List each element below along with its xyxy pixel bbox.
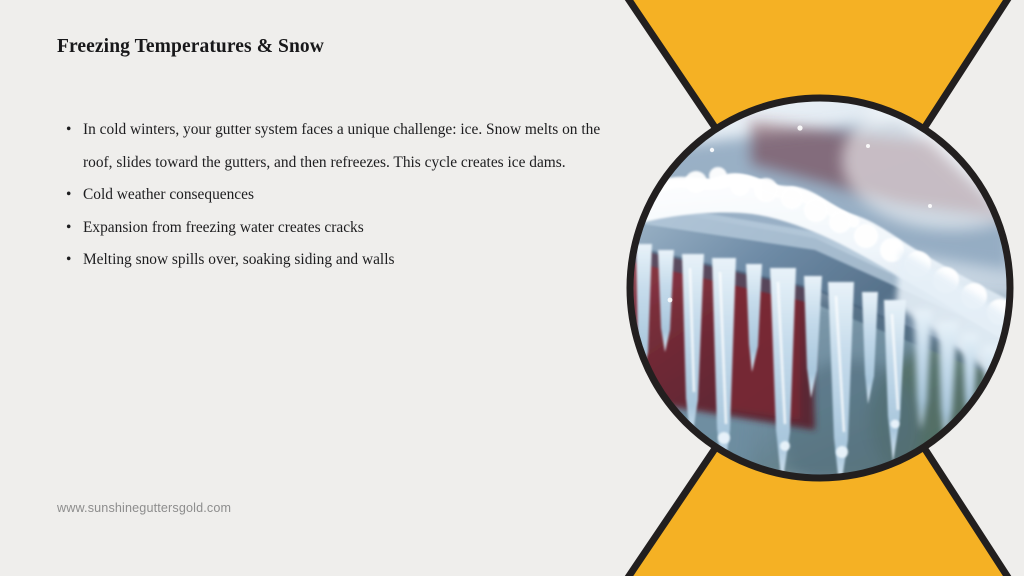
bullet-marker-icon: • xyxy=(66,244,71,277)
list-item: • In cold winters, your gutter system fa… xyxy=(64,114,624,179)
text-column: Freezing Temperatures & Snow • In cold w… xyxy=(0,0,625,576)
list-item-label: Melting snow spills over, soaking siding… xyxy=(83,244,624,277)
bullet-marker-icon: • xyxy=(66,179,71,212)
circular-photo xyxy=(630,90,1024,500)
slide-canvas: Freezing Temperatures & Snow • In cold w… xyxy=(0,0,1024,576)
list-item-label: Expansion from freezing water creates cr… xyxy=(83,212,624,245)
bullet-marker-icon: • xyxy=(66,212,71,245)
list-item: • Cold weather consequences xyxy=(64,179,624,212)
bullet-marker-icon: • xyxy=(66,114,71,147)
bowtie-graphic-svg xyxy=(600,0,1024,576)
page-title: Freezing Temperatures & Snow xyxy=(57,36,324,58)
bullet-list: • In cold winters, your gutter system fa… xyxy=(64,114,624,277)
footer-website-url[interactable]: www.sunshineguttersgold.com xyxy=(57,501,231,515)
list-item-label: In cold winters, your gutter system face… xyxy=(83,114,624,179)
list-item: • Expansion from freezing water creates … xyxy=(64,212,624,245)
decorative-graphic xyxy=(600,0,1024,576)
list-item: • Melting snow spills over, soaking sidi… xyxy=(64,244,624,277)
list-item-label: Cold weather consequences xyxy=(83,179,624,212)
